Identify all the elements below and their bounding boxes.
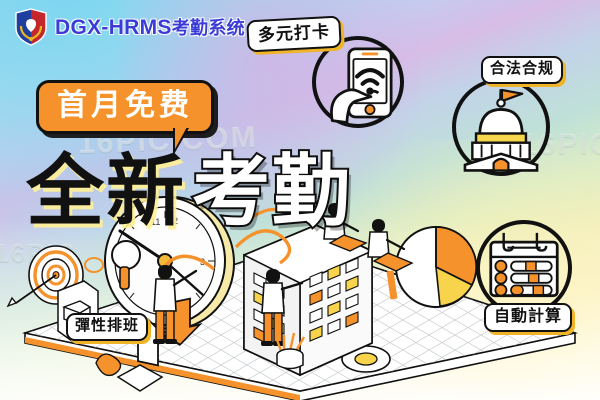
headline-light: 考勤 xyxy=(192,152,352,230)
calendar-slider-icon xyxy=(476,220,572,316)
free-month-badge[interactable]: 首月免费 xyxy=(36,80,214,134)
free-month-box: 首月免费 xyxy=(36,80,214,134)
free-month-bubble-tail xyxy=(173,128,189,156)
headline-dark: 全新 xyxy=(26,152,186,230)
brand-name: DGX-HRMS考勤系统 xyxy=(55,14,245,40)
feature-badge-flexible-shift[interactable]: 彈性排班 xyxy=(66,313,148,341)
feature-badge-auto-calc[interactable]: 自動計算 xyxy=(484,303,572,332)
free-month-label: 首月免费 xyxy=(57,90,193,122)
shield-badge-icon xyxy=(14,8,48,46)
feature-badge-multi-punch[interactable]: 多元打卡 xyxy=(246,16,342,53)
page-title: 全新 考勤 xyxy=(26,152,352,230)
government-building-icon xyxy=(452,78,550,176)
brand-name-cn: 考勤系统 xyxy=(172,18,245,38)
brand-logo[interactable]: DGX-HRMS考勤系统 xyxy=(14,8,245,46)
phone-wifi-icon xyxy=(312,36,404,128)
brand-name-latin: DGX-HRMS xyxy=(55,16,172,39)
feature-badge-compliance[interactable]: 合法合规 xyxy=(481,56,563,84)
promotional-banner: 16PIC.COM 16PIC 16PIC xyxy=(0,0,600,400)
